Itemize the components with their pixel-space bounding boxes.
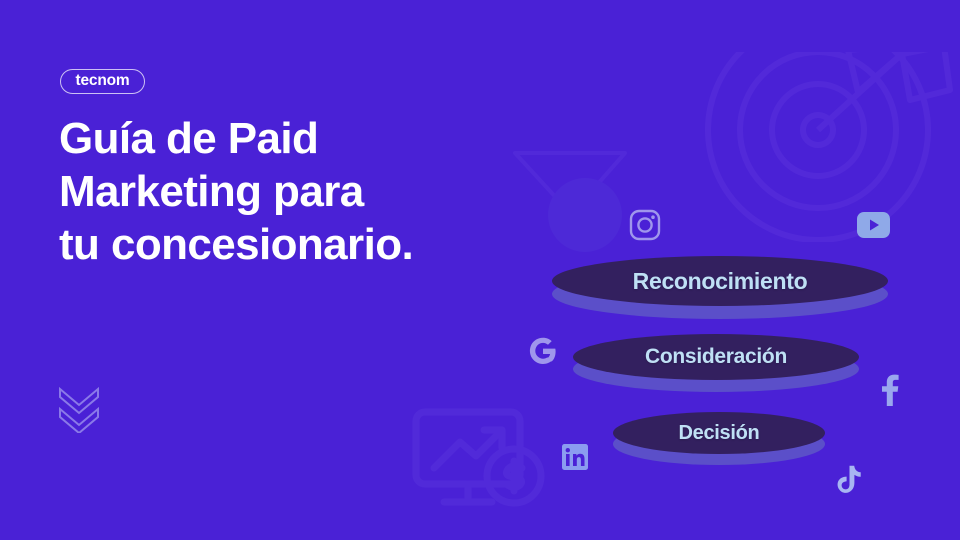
slide-canvas: tecnom Guía de Paid Marketing para tu co… bbox=[0, 0, 960, 540]
funnel-layer-decision[interactable]: Decisión bbox=[613, 412, 825, 454]
linkedin-icon[interactable] bbox=[562, 444, 588, 470]
instagram-icon[interactable] bbox=[629, 209, 661, 241]
marketing-funnel: Reconocimiento Consideración Decisión bbox=[0, 0, 960, 540]
funnel-layer-3-label: Decisión bbox=[613, 412, 825, 454]
funnel-layer-2-label: Consideración bbox=[573, 334, 859, 380]
google-icon[interactable] bbox=[529, 336, 557, 366]
facebook-icon[interactable] bbox=[878, 373, 900, 406]
funnel-layer-reconocimiento[interactable]: Reconocimiento bbox=[552, 256, 888, 306]
youtube-icon[interactable] bbox=[857, 212, 890, 238]
funnel-layer-consideracion[interactable]: Consideración bbox=[573, 334, 859, 380]
funnel-layer-1-label: Reconocimiento bbox=[552, 256, 888, 306]
tiktok-icon[interactable] bbox=[835, 465, 863, 497]
